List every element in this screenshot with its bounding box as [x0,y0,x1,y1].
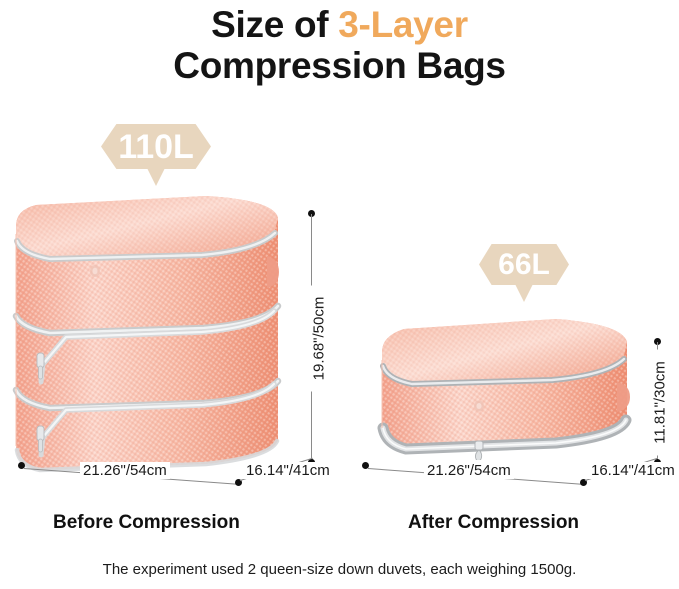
bag-before-compression [6,194,288,478]
volume-badge-after-label: 66L [498,250,550,280]
page-title: Size of 3-Layer Compression Bags [0,4,679,87]
volume-badge-before: 110L [101,124,211,169]
badge-tail-after [515,284,533,302]
title-text-size-of: Size of [211,4,338,45]
caption-before-compression: Before Compression [53,512,240,534]
bag-after-side-handle [617,382,630,412]
title-accent-3-layer: 3-Layer [338,4,468,45]
title-line-1: Size of 3-Layer [0,4,679,45]
volume-badge-before-label: 110L [118,130,194,164]
dim-after-height-label: 11.81"/30cm [652,350,669,456]
caption-after-compression: After Compression [408,512,579,534]
bag-before-air-valve [90,265,100,277]
badge-tail-before [147,168,165,186]
bag-before-illustration [6,194,288,478]
dim-after-width-label: 21.26"/54cm [424,462,514,479]
dim-before-height-label: 19.68"/50cm [311,286,328,392]
bag-after-illustration [374,316,636,460]
infographic-page: Size of 3-Layer Compression Bags 110L 66… [0,0,679,589]
dim-before-depth-label: 16.14"/41cm [243,462,333,479]
dim-before-width-label: 21.26"/54cm [80,462,170,479]
dim-after-depth-label: 16.14"/41cm [588,462,678,479]
bag-after-air-valve [474,401,484,412]
footnote-text: The experiment used 2 queen-size down du… [0,561,679,578]
volume-badge-after: 66L [479,244,569,285]
title-line-2: Compression Bags [0,45,679,86]
bag-after-compression [374,316,636,460]
